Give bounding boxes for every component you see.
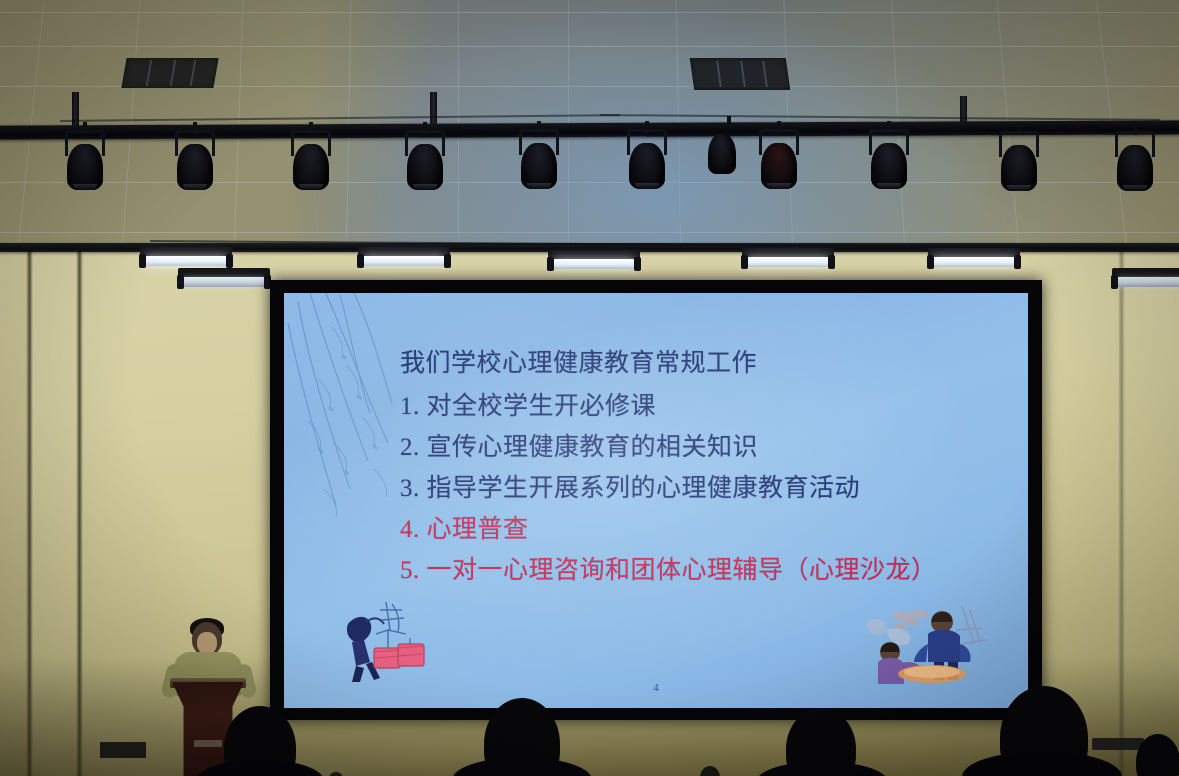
stage-light bbox=[624, 129, 670, 191]
stage-light bbox=[172, 130, 218, 192]
projection-screen[interactable]: 我们学校心理健康教育常规工作 1. 对全校学生开必修课 2. 宣传心理健康教育的… bbox=[284, 293, 1028, 708]
fluorescent-fixture bbox=[928, 248, 1020, 274]
stage-light bbox=[516, 129, 562, 191]
lecture-hall-scene: 我们学校心理健康教育常规工作 1. 对全校学生开必修课 2. 宣传心理健康教育的… bbox=[0, 0, 1179, 776]
fluorescent-fixture bbox=[1112, 268, 1179, 294]
stage-light bbox=[288, 130, 334, 192]
wall-outlet-panel bbox=[1092, 738, 1144, 750]
slide-title: 我们学校心理健康教育常规工作 bbox=[400, 351, 1000, 376]
slide-item-1: 1. 对全校学生开必修课 bbox=[400, 394, 1000, 419]
ceiling-vent bbox=[121, 58, 218, 88]
podium-nameplate bbox=[194, 740, 222, 747]
stage-light bbox=[756, 129, 802, 191]
stage-light bbox=[866, 129, 912, 191]
wall-equipment-box bbox=[100, 742, 146, 758]
ceiling-vent bbox=[690, 58, 790, 90]
fluorescent-fixture bbox=[358, 247, 450, 273]
slide-item-3: 3. 指导学生开展系列的心理健康教育活动 bbox=[400, 476, 1000, 501]
folk-art-illustration-left bbox=[330, 600, 450, 686]
slide-page-number: 4 bbox=[284, 682, 1028, 694]
truss-drop-rod bbox=[430, 92, 437, 124]
fluorescent-fixture bbox=[178, 268, 270, 294]
slide-item-5: 5. 一对一心理咨询和团体心理辅导（心理沙龙） bbox=[400, 558, 1000, 583]
fluorescent-fixture bbox=[742, 248, 834, 274]
stage-light bbox=[1112, 131, 1158, 193]
audience-head bbox=[1136, 734, 1179, 776]
stage-light bbox=[996, 131, 1042, 193]
speaker-face bbox=[197, 632, 217, 654]
slide-item-2: 2. 宣传心理健康教育的相关知识 bbox=[400, 435, 1000, 460]
slide-item-4: 4. 心理普查 bbox=[400, 517, 1000, 542]
stage-light bbox=[402, 130, 448, 192]
projection-screen-frame: 我们学校心理健康教育常规工作 1. 对全校学生开必修课 2. 宣传心理健康教育的… bbox=[270, 280, 1042, 720]
stage-light bbox=[62, 130, 108, 192]
slide-text-block: 我们学校心理健康教育常规工作 1. 对全校学生开必修课 2. 宣传心理健康教育的… bbox=[400, 351, 1000, 599]
folk-art-illustration-right bbox=[856, 600, 1006, 692]
stage-light bbox=[706, 124, 740, 174]
fluorescent-fixture bbox=[548, 250, 640, 276]
